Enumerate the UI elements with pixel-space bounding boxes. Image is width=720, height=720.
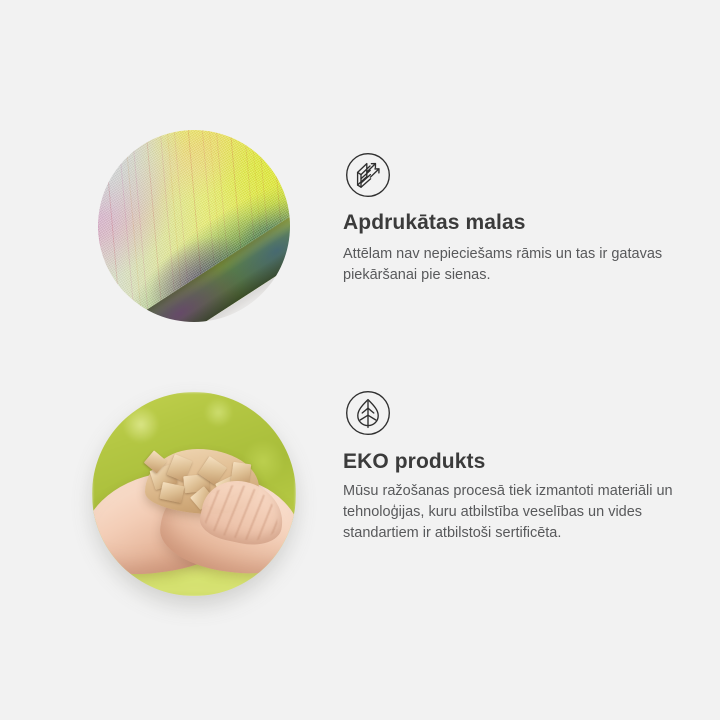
hands-holding-wood-chips-photo [92,392,296,596]
feature-title-eko: EKO produkts [343,450,485,474]
feature-description-eko: Mūsu ražošanas procesā tiek izmantoti ma… [343,481,673,544]
feature-block-eko: EKO produkts Mūsu ražošanas procesā tiek… [0,0,720,720]
leaf-icon [345,390,391,436]
product-feature-infographic: Apdrukātas malas Attēlam nav nepieciešam… [0,0,720,720]
